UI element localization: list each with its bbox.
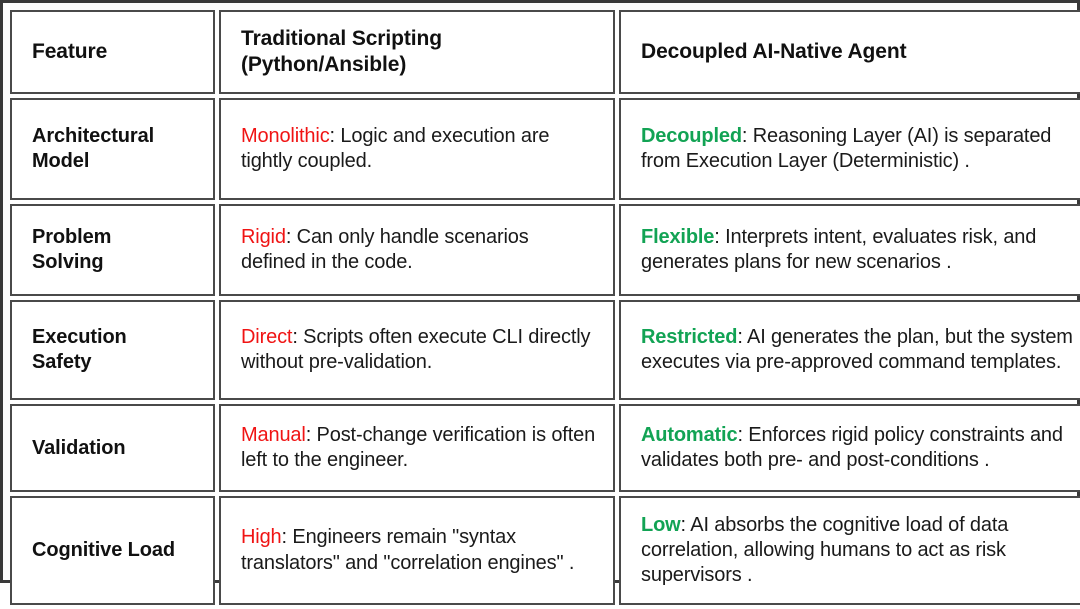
table-frame: Feature Traditional Scripting (Python/An… bbox=[0, 0, 1080, 583]
agent-cell-problem-solving: Flexible: Interprets intent, evaluates r… bbox=[619, 204, 1080, 296]
traditional-cell-problem-solving: Rigid: Can only handle scenarios defined… bbox=[219, 204, 615, 296]
agent-cell-architectural-model: Decoupled: Reasoning Layer (AI) is separ… bbox=[619, 98, 1080, 200]
header-cell-traditional: Traditional Scripting (Python/Ansible) bbox=[219, 10, 615, 94]
cell-body: AI absorbs the cognitive load of data co… bbox=[641, 514, 1008, 586]
traditional-cell-validation: Manual: Post-change verification is ofte… bbox=[219, 404, 615, 492]
feature-label-line2: Model bbox=[32, 150, 89, 172]
feature-cell-problem-solving: Problem Solving bbox=[10, 204, 215, 296]
table-row: Validation Manual: Post-change verificat… bbox=[10, 404, 1080, 492]
keyword-separator: : bbox=[742, 125, 753, 147]
header-cell-agent: Decoupled AI-Native Agent bbox=[619, 10, 1080, 94]
keyword-badge: Manual bbox=[241, 424, 306, 446]
keyword-separator: : bbox=[714, 226, 725, 248]
header-label-traditional-line1: Traditional Scripting bbox=[241, 27, 442, 50]
table-header-row: Feature Traditional Scripting (Python/An… bbox=[10, 10, 1080, 94]
keyword-separator: : bbox=[330, 125, 341, 147]
header-label-feature: Feature bbox=[32, 39, 197, 65]
cell-text: Direct: Scripts often execute CLI direct… bbox=[241, 325, 597, 375]
feature-cell-validation: Validation bbox=[10, 404, 215, 492]
keyword-badge: Direct bbox=[241, 326, 292, 348]
cell-text: High: Engineers remain "syntax translato… bbox=[241, 525, 597, 575]
keyword-badge: Monolithic bbox=[241, 125, 330, 147]
keyword-separator: : bbox=[282, 526, 293, 548]
feature-label: Cognitive Load bbox=[32, 538, 197, 563]
header-cell-feature: Feature bbox=[10, 10, 215, 94]
feature-label-line2: Safety bbox=[32, 351, 91, 373]
cell-text: Flexible: Interprets intent, evaluates r… bbox=[641, 225, 1074, 275]
feature-label-line1: Problem bbox=[32, 226, 111, 248]
cell-text: Manual: Post-change verification is ofte… bbox=[241, 423, 597, 473]
feature-label-line2: Solving bbox=[32, 251, 104, 273]
table-row: Execution Safety Direct: Scripts often e… bbox=[10, 300, 1080, 400]
traditional-cell-execution-safety: Direct: Scripts often execute CLI direct… bbox=[219, 300, 615, 400]
cell-text: Monolithic: Logic and execution are tigh… bbox=[241, 124, 597, 174]
keyword-badge: Flexible bbox=[641, 226, 714, 248]
table-row: Architectural Model Monolithic: Logic an… bbox=[10, 98, 1080, 200]
keyword-separator: : bbox=[292, 326, 303, 348]
cell-text: Restricted: AI generates the plan, but t… bbox=[641, 325, 1074, 375]
header-label-traditional-line2: (Python/Ansible) bbox=[241, 53, 406, 76]
cell-text: Low: AI absorbs the cognitive load of da… bbox=[641, 513, 1074, 589]
keyword-badge: High bbox=[241, 526, 282, 548]
agent-cell-validation: Automatic: Enforces rigid policy constra… bbox=[619, 404, 1080, 492]
keyword-badge: Low bbox=[641, 514, 681, 536]
traditional-cell-cognitive-load: High: Engineers remain "syntax translato… bbox=[219, 496, 615, 605]
header-label-agent: Decoupled AI-Native Agent bbox=[641, 39, 1074, 65]
agent-cell-cognitive-load: Low: AI absorbs the cognitive load of da… bbox=[619, 496, 1080, 605]
comparison-table: Feature Traditional Scripting (Python/An… bbox=[6, 6, 1080, 609]
header-label-traditional: Traditional Scripting (Python/Ansible) bbox=[241, 26, 597, 77]
table-row: Cognitive Load High: Engineers remain "s… bbox=[10, 496, 1080, 605]
keyword-badge: Decoupled bbox=[641, 125, 742, 147]
keyword-badge: Restricted bbox=[641, 326, 737, 348]
feature-cell-cognitive-load: Cognitive Load bbox=[10, 496, 215, 605]
keyword-separator: : bbox=[737, 326, 747, 348]
cell-text: Automatic: Enforces rigid policy constra… bbox=[641, 423, 1074, 473]
keyword-separator: : bbox=[306, 424, 317, 446]
agent-cell-execution-safety: Restricted: AI generates the plan, but t… bbox=[619, 300, 1080, 400]
feature-cell-architectural-model: Architectural Model bbox=[10, 98, 215, 200]
feature-cell-execution-safety: Execution Safety bbox=[10, 300, 215, 400]
cell-text: Decoupled: Reasoning Layer (AI) is separ… bbox=[641, 124, 1074, 174]
keyword-separator: : bbox=[286, 226, 297, 248]
feature-label-line1: Execution bbox=[32, 326, 127, 348]
keyword-badge: Rigid bbox=[241, 226, 286, 248]
keyword-separator: : bbox=[681, 514, 691, 536]
cell-text: Rigid: Can only handle scenarios defined… bbox=[241, 225, 597, 275]
feature-label: Execution Safety bbox=[32, 325, 197, 375]
traditional-cell-architectural-model: Monolithic: Logic and execution are tigh… bbox=[219, 98, 615, 200]
feature-label: Problem Solving bbox=[32, 225, 197, 275]
table-row: Problem Solving Rigid: Can only handle s… bbox=[10, 204, 1080, 296]
feature-label-line1: Architectural bbox=[32, 125, 154, 147]
feature-label: Architectural Model bbox=[32, 124, 197, 174]
feature-label: Validation bbox=[32, 436, 197, 461]
keyword-separator: : bbox=[737, 424, 748, 446]
keyword-badge: Automatic bbox=[641, 424, 737, 446]
